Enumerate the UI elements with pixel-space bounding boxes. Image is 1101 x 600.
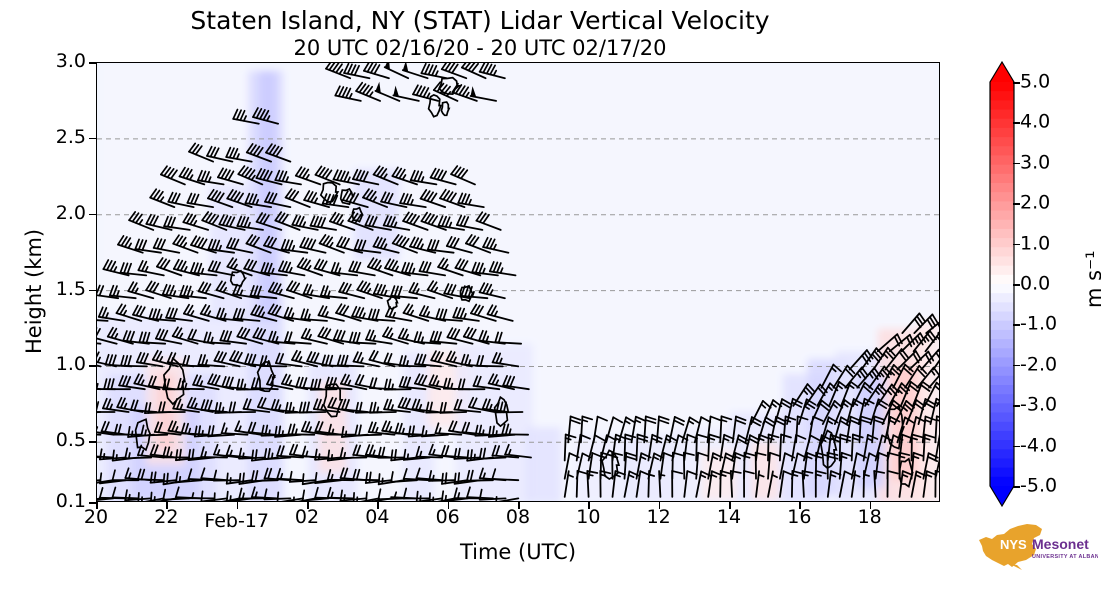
nys-mesonet-logo: NYS Mesonet UNIVERSITY AT ALBANY <box>970 520 1098 578</box>
y-tick-mark <box>89 502 96 504</box>
colorbar-tick-label: 1.0 <box>1020 234 1050 253</box>
colorbar-tick-label: 3.0 <box>1020 153 1050 172</box>
colorbar-band <box>990 256 1014 266</box>
colorbar-tick-label: 2.0 <box>1020 194 1050 213</box>
x-tick-mark <box>518 502 520 509</box>
x-tick-label: 20 <box>84 508 108 527</box>
colorbar-tick-mark <box>1013 82 1020 84</box>
lidar-vertical-velocity-figure: Staten Island, NY (STAT) Lidar Vertical … <box>0 0 1101 600</box>
colorbar-band <box>990 431 1014 441</box>
colorbar-band <box>990 100 1014 110</box>
logo-tagline-text: UNIVERSITY AT ALBANY <box>1032 554 1098 560</box>
colorbar-band <box>990 339 1014 349</box>
colorbar-band <box>990 385 1014 395</box>
colorbar-band <box>990 413 1014 423</box>
colorbar-tick-mark <box>1013 203 1020 205</box>
y-tick-label: 0.5 <box>34 431 86 450</box>
colorbar-tick-mark <box>1013 446 1020 448</box>
y-axis-label: Height (km) <box>22 229 46 354</box>
colorbar-band <box>990 266 1014 276</box>
colorbar-tick-mark <box>1013 324 1020 326</box>
colorbar-tick-label: -1.0 <box>1020 315 1057 334</box>
colorbar-band <box>990 183 1014 193</box>
colorbar-band <box>990 477 1014 487</box>
colorbar-band <box>990 192 1014 202</box>
colorbar-band <box>990 449 1014 459</box>
colorbar-band <box>990 440 1014 450</box>
x-tick-mark <box>237 502 239 509</box>
x-tick-label: 22 <box>154 508 178 527</box>
colorbar-band <box>990 422 1014 432</box>
x-tick-label: 18 <box>858 508 882 527</box>
colorbar-tick-label: 4.0 <box>1020 113 1050 132</box>
colorbar-band <box>990 376 1014 386</box>
plot-canvas <box>97 63 940 502</box>
colorbar-band <box>990 468 1014 478</box>
x-tick-mark <box>870 502 872 509</box>
colorbar-tick-mark <box>1013 122 1020 124</box>
colorbar-tick-mark <box>1013 486 1020 488</box>
colorbar-band <box>990 174 1014 184</box>
page-subtitle: 20 UTC 02/16/20 - 20 UTC 02/17/20 <box>0 36 960 60</box>
y-tick-label: 3.0 <box>34 52 86 71</box>
plot-area <box>96 62 940 502</box>
colorbar-band <box>990 357 1014 367</box>
x-tick-label: 06 <box>436 508 460 527</box>
colorbar-band <box>990 348 1014 358</box>
colorbar-label: m s⁻¹ <box>1082 250 1101 308</box>
x-axis-label: Time (UTC) <box>96 540 940 564</box>
field-patch <box>526 427 561 502</box>
colorbar-band <box>990 247 1014 257</box>
y-tick-label: 2.0 <box>34 204 86 223</box>
colorbar-band <box>990 312 1014 322</box>
colorbar-band <box>990 403 1014 413</box>
colorbar-tick-label: -4.0 <box>1020 436 1057 455</box>
colorbar-band <box>990 211 1014 221</box>
colorbar-band <box>990 146 1014 156</box>
colorbar-band <box>990 165 1014 175</box>
colorbar-band <box>990 458 1014 468</box>
colorbar-tick-mark <box>1013 244 1020 246</box>
colorbar-band <box>990 128 1014 138</box>
colorbar-tick-label: -3.0 <box>1020 396 1057 415</box>
x-tick-label: 08 <box>506 508 530 527</box>
colorbar-band <box>990 284 1014 294</box>
x-tick-label: 10 <box>576 508 600 527</box>
x-tick-label: 16 <box>787 508 811 527</box>
x-tick-mark <box>448 502 450 509</box>
y-tick-label: 2.5 <box>34 128 86 147</box>
colorbar-tick-mark <box>1013 365 1020 367</box>
x-tick-label: 14 <box>717 508 741 527</box>
y-tick-label: 1.0 <box>34 355 86 374</box>
logo-nys-text: NYS <box>1000 537 1027 552</box>
colorbar-band <box>990 302 1014 312</box>
page-title: Staten Island, NY (STAT) Lidar Vertical … <box>0 6 960 35</box>
x-tick-mark <box>588 502 590 509</box>
colorbar-band <box>990 321 1014 331</box>
y-tick-mark <box>89 441 96 443</box>
colorbar-extend-max <box>990 62 1014 82</box>
x-tick-label: 02 <box>295 508 319 527</box>
logo-mesonet-text: Mesonet <box>1032 536 1089 552</box>
x-tick-mark <box>96 502 98 509</box>
colorbar-band <box>990 137 1014 147</box>
colorbar-band <box>990 275 1014 285</box>
colorbar-band <box>990 82 1014 92</box>
x-tick-label: 12 <box>647 508 671 527</box>
colorbar-band <box>990 394 1014 404</box>
colorbar-band <box>990 155 1014 165</box>
y-tick-label: 0.1 <box>34 492 86 511</box>
x-tick-mark <box>377 502 379 509</box>
x-tick-mark <box>166 502 168 509</box>
y-tick-mark <box>89 290 96 292</box>
y-tick-mark <box>89 62 96 64</box>
colorbar-band <box>990 201 1014 211</box>
y-tick-mark <box>89 214 96 216</box>
colorbar-band <box>990 238 1014 248</box>
x-tick-mark <box>307 502 309 509</box>
x-tick-mark <box>659 502 661 509</box>
x-tick-label: Feb-17 <box>204 512 269 531</box>
colorbar-tick-mark <box>1013 163 1020 165</box>
colorbar-band <box>990 119 1014 129</box>
colorbar-tick-label: -5.0 <box>1020 477 1057 496</box>
colorbar-band <box>990 220 1014 230</box>
colorbar-tick-mark <box>1013 284 1020 286</box>
colorbar-band <box>990 330 1014 340</box>
y-tick-mark <box>89 138 96 140</box>
y-tick-mark <box>89 365 96 367</box>
colorbar-band <box>990 91 1014 101</box>
colorbar-band <box>990 367 1014 377</box>
colorbar-tick-label: 0.0 <box>1020 275 1050 294</box>
x-tick-mark <box>799 502 801 509</box>
x-tick-label: 04 <box>365 508 389 527</box>
colorbar-tick-mark <box>1013 405 1020 407</box>
x-tick-mark <box>729 502 731 509</box>
colorbar-tick-label: 5.0 <box>1020 73 1050 92</box>
colorbar-band <box>990 110 1014 120</box>
colorbar-band <box>990 293 1014 303</box>
colorbar-band <box>990 229 1014 239</box>
colorbar-tick-label: -2.0 <box>1020 355 1057 374</box>
colorbar-extend-min <box>990 486 1014 506</box>
